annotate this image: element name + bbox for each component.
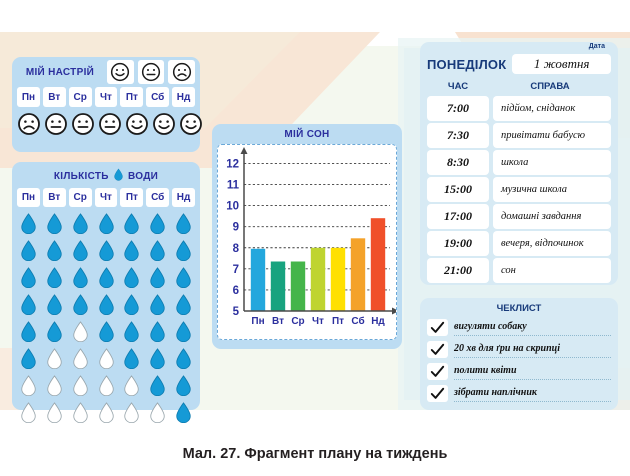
water-drop-filled-icon[interactable] bbox=[176, 240, 191, 266]
water-drop-filled-icon[interactable] bbox=[47, 240, 62, 266]
checklist-title: ЧЕКЛИСТ bbox=[420, 298, 618, 317]
water-drop-filled-icon[interactable] bbox=[21, 321, 36, 347]
mood-day-header: Ср bbox=[69, 87, 92, 107]
date-value-field[interactable]: 1 жовтня bbox=[512, 54, 611, 74]
water-drop-empty-icon[interactable] bbox=[73, 402, 88, 428]
water-drop-empty-icon[interactable] bbox=[124, 402, 139, 428]
page-root: МІЙ НАСТРІЙ bbox=[0, 0, 630, 476]
sleep-chart-panel: МІЙ СОН 56789101112ПнВтСрЧтПтСбНд bbox=[212, 124, 402, 349]
water-drop-filled-icon[interactable] bbox=[99, 294, 114, 320]
water-title: КІЛЬКІСТЬ ВОДИ bbox=[12, 162, 200, 188]
checklist-row: полити квіти bbox=[427, 361, 611, 381]
checklist-checkbox[interactable] bbox=[427, 363, 448, 380]
date-label: Дата bbox=[589, 43, 605, 50]
mood-day-header: Пт bbox=[120, 87, 143, 107]
svg-text:10: 10 bbox=[226, 201, 239, 213]
water-drop-column[interactable] bbox=[17, 213, 40, 428]
svg-text:9: 9 bbox=[233, 222, 239, 234]
water-drop-filled-icon[interactable] bbox=[176, 267, 191, 293]
schedule-task-cell[interactable]: привітати бабусю bbox=[493, 123, 611, 148]
schedule-task-cell[interactable]: домашні завдання bbox=[493, 204, 611, 229]
schedule-time-cell[interactable]: 8:30 bbox=[427, 150, 489, 175]
water-drop-filled-icon[interactable] bbox=[176, 294, 191, 320]
water-drop-empty-icon[interactable] bbox=[47, 348, 62, 374]
water-drop-filled-icon[interactable] bbox=[99, 240, 114, 266]
water-drop-empty-icon[interactable] bbox=[73, 348, 88, 374]
water-drop-filled-icon[interactable] bbox=[150, 294, 165, 320]
water-day-header: Пт bbox=[120, 188, 143, 207]
schedule-task-cell[interactable]: вечеря, відпочинок bbox=[493, 231, 611, 256]
water-title-left: КІЛЬКІСТЬ bbox=[54, 171, 109, 182]
svg-text:Пн: Пн bbox=[251, 316, 264, 327]
water-drop-empty-icon[interactable] bbox=[47, 375, 62, 401]
checklist-item-label[interactable]: вигуляти собаку bbox=[454, 318, 611, 336]
water-drop-filled-icon[interactable] bbox=[176, 348, 191, 374]
water-drop-filled-icon[interactable] bbox=[21, 213, 36, 239]
neutral-face-icon[interactable] bbox=[71, 110, 95, 138]
checklist-item-label[interactable]: зібрати наплічник bbox=[454, 384, 611, 402]
svg-text:7: 7 bbox=[233, 264, 239, 276]
water-drop-filled-icon[interactable] bbox=[124, 321, 139, 347]
sleep-chart-svg: 56789101112ПнВтСрЧтПтСбНд bbox=[218, 145, 396, 337]
schedule-weekday: ПОНЕДІЛОК bbox=[427, 57, 506, 74]
water-drop-filled-icon[interactable] bbox=[124, 240, 139, 266]
water-drop-column[interactable] bbox=[146, 213, 169, 428]
schedule-task-cell[interactable]: школа bbox=[493, 150, 611, 175]
svg-text:11: 11 bbox=[227, 180, 240, 192]
schedule-column-headers: ЧАС СПРАВА bbox=[420, 80, 618, 96]
sleep-chart-title: МІЙ СОН bbox=[212, 124, 402, 144]
water-drop-column[interactable] bbox=[95, 213, 118, 428]
water-drop-filled-icon[interactable] bbox=[21, 240, 36, 266]
schedule-rows: 7:00підйом, сніданок7:30привітати бабусю… bbox=[420, 96, 618, 283]
checklist-panel: ЧЕКЛИСТ вигуляти собаку20 хв для ґри на … bbox=[420, 298, 618, 410]
schedule-task-cell[interactable]: музична школа bbox=[493, 177, 611, 202]
water-drop-filled-icon[interactable] bbox=[21, 348, 36, 374]
schedule-col-task: СПРАВА bbox=[489, 81, 611, 92]
water-day-header: Сб bbox=[146, 188, 169, 207]
water-drop-empty-icon[interactable] bbox=[73, 321, 88, 347]
checklist-checkbox[interactable] bbox=[427, 385, 448, 402]
schedule-task-cell[interactable]: сон bbox=[493, 258, 611, 283]
svg-text:Нд: Нд bbox=[371, 316, 385, 327]
checklist-checkbox[interactable] bbox=[427, 341, 448, 358]
water-drop-grid[interactable] bbox=[12, 207, 200, 434]
water-day-header: Чт bbox=[95, 188, 118, 207]
check-mark-icon bbox=[430, 365, 445, 378]
check-mark-icon bbox=[430, 321, 445, 334]
water-drop-empty-icon[interactable] bbox=[21, 402, 36, 428]
svg-text:Ср: Ср bbox=[291, 316, 304, 327]
happy-face-icon bbox=[107, 60, 134, 84]
water-drop-filled-icon[interactable] bbox=[73, 267, 88, 293]
mood-days-row: ПнВтСрЧтПтСбНд bbox=[12, 87, 200, 107]
water-drop-filled-icon[interactable] bbox=[73, 240, 88, 266]
schedule-row: 7:00підйом, сніданок bbox=[427, 96, 611, 121]
check-mark-icon bbox=[430, 343, 445, 356]
water-drop-filled-icon[interactable] bbox=[99, 267, 114, 293]
svg-text:Пт: Пт bbox=[332, 316, 344, 327]
checklist-item-label[interactable]: полити квіти bbox=[454, 362, 611, 380]
mood-day-header: Пн bbox=[17, 87, 40, 107]
schedule-panel: ПОНЕДІЛОК Дата 1 жовтня ЧАС СПРАВА 7:00п… bbox=[420, 42, 618, 285]
date-wrapper: Дата 1 жовтня bbox=[512, 54, 611, 74]
schedule-task-cell[interactable]: підйом, сніданок bbox=[493, 96, 611, 121]
water-drop-filled-icon[interactable] bbox=[124, 213, 139, 239]
svg-text:Сб: Сб bbox=[351, 315, 364, 327]
water-title-right: ВОДИ bbox=[128, 171, 158, 182]
svg-text:5: 5 bbox=[233, 306, 240, 318]
sad-face-icon[interactable] bbox=[17, 110, 41, 138]
water-drop-filled-icon[interactable] bbox=[150, 213, 165, 239]
water-drop-filled-icon[interactable] bbox=[124, 348, 139, 374]
water-drop-filled-icon[interactable] bbox=[176, 213, 191, 239]
happy-face-icon[interactable] bbox=[125, 110, 149, 138]
water-drop-filled-icon[interactable] bbox=[21, 294, 36, 320]
schedule-time-cell[interactable]: 19:00 bbox=[427, 231, 489, 256]
water-day-header: Нд bbox=[172, 188, 195, 207]
water-drop-filled-icon[interactable] bbox=[150, 375, 165, 401]
sleep-chart-plot: 56789101112ПнВтСрЧтПтСбНд bbox=[217, 144, 397, 340]
water-drop-empty-icon[interactable] bbox=[21, 375, 36, 401]
schedule-time-cell[interactable]: 15:00 bbox=[427, 177, 489, 202]
schedule-time-cell[interactable]: 17:00 bbox=[427, 204, 489, 229]
schedule-row: 15:00музична школа bbox=[427, 177, 611, 202]
checklist-row: 20 хв для ґри на скрипці bbox=[427, 339, 611, 359]
water-drop-empty-icon[interactable] bbox=[150, 402, 165, 428]
water-panel: КІЛЬКІСТЬ ВОДИ ПнВтСрЧтПтСбНд bbox=[12, 162, 200, 410]
water-drop-filled-icon[interactable] bbox=[47, 267, 62, 293]
schedule-time-cell[interactable]: 7:00 bbox=[427, 96, 489, 121]
water-drop-filled-icon[interactable] bbox=[150, 240, 165, 266]
water-drop-empty-icon[interactable] bbox=[99, 375, 114, 401]
schedule-row: 8:30школа bbox=[427, 150, 611, 175]
water-drop-icon bbox=[114, 168, 123, 184]
water-day-header: Вт bbox=[43, 188, 66, 207]
water-drop-filled-icon[interactable] bbox=[21, 267, 36, 293]
water-days-row: ПнВтСрЧтПтСбНд bbox=[12, 188, 200, 207]
water-drop-filled-icon[interactable] bbox=[47, 213, 62, 239]
check-mark-icon bbox=[430, 387, 445, 400]
water-drop-filled-icon[interactable] bbox=[47, 294, 62, 320]
mood-title: МІЙ НАСТРІЙ bbox=[17, 67, 103, 78]
mood-panel: МІЙ НАСТРІЙ bbox=[12, 57, 200, 152]
mood-values-row bbox=[12, 107, 200, 138]
happy-face-icon[interactable] bbox=[179, 110, 203, 138]
happy-face-icon[interactable] bbox=[152, 110, 176, 138]
water-day-header: Ср bbox=[69, 188, 92, 207]
water-drop-filled-icon[interactable] bbox=[150, 321, 165, 347]
schedule-row: 21:00сон bbox=[427, 258, 611, 283]
water-drop-column[interactable] bbox=[43, 213, 66, 428]
water-drop-filled-icon[interactable] bbox=[176, 402, 191, 428]
neutral-face-icon[interactable] bbox=[98, 110, 122, 138]
svg-text:Чт: Чт bbox=[312, 316, 324, 327]
figure-caption: Мал. 27. Фрагмент плану на тиждень bbox=[0, 446, 630, 462]
mood-day-header: Чт bbox=[95, 87, 118, 107]
checklist-item-label[interactable]: 20 хв для ґри на скрипці bbox=[454, 340, 611, 358]
water-drop-filled-icon[interactable] bbox=[73, 213, 88, 239]
checklist-row: зібрати наплічник bbox=[427, 383, 611, 403]
neutral-face-icon[interactable] bbox=[44, 110, 68, 138]
schedule-row: 19:00вечеря, відпочинок bbox=[427, 231, 611, 256]
svg-text:12: 12 bbox=[226, 158, 239, 170]
schedule-row: 17:00домашні завдання bbox=[427, 204, 611, 229]
sad-face-icon bbox=[168, 60, 195, 84]
water-drop-filled-icon[interactable] bbox=[150, 348, 165, 374]
water-drop-empty-icon[interactable] bbox=[124, 375, 139, 401]
neutral-face-icon bbox=[138, 60, 165, 84]
water-drop-filled-icon[interactable] bbox=[124, 294, 139, 320]
svg-text:Вт: Вт bbox=[272, 316, 284, 327]
checklist-checkbox[interactable] bbox=[427, 319, 448, 336]
water-drop-column[interactable] bbox=[172, 213, 195, 428]
schedule-col-time: ЧАС bbox=[427, 81, 489, 92]
checklist-rows: вигуляти собаку20 хв для ґри на скрипціп… bbox=[420, 317, 618, 403]
water-drop-filled-icon[interactable] bbox=[176, 375, 191, 401]
water-day-header: Пн bbox=[17, 188, 40, 207]
water-drop-column[interactable] bbox=[120, 213, 143, 428]
water-drop-filled-icon[interactable] bbox=[73, 294, 88, 320]
svg-text:8: 8 bbox=[233, 243, 240, 255]
water-drop-filled-icon[interactable] bbox=[99, 321, 114, 347]
water-drop-column[interactable] bbox=[69, 213, 92, 428]
schedule-row: 7:30привітати бабусю bbox=[427, 123, 611, 148]
water-drop-filled-icon[interactable] bbox=[99, 213, 114, 239]
water-drop-empty-icon[interactable] bbox=[73, 375, 88, 401]
water-drop-empty-icon[interactable] bbox=[99, 402, 114, 428]
mood-day-header: Нд bbox=[172, 87, 195, 107]
water-drop-empty-icon[interactable] bbox=[99, 348, 114, 374]
svg-text:6: 6 bbox=[233, 285, 239, 297]
schedule-time-cell[interactable]: 21:00 bbox=[427, 258, 489, 283]
checklist-row: вигуляти собаку bbox=[427, 317, 611, 337]
water-drop-filled-icon[interactable] bbox=[124, 267, 139, 293]
water-drop-filled-icon[interactable] bbox=[150, 267, 165, 293]
water-drop-empty-icon[interactable] bbox=[47, 402, 62, 428]
schedule-header: ПОНЕДІЛОК Дата 1 жовтня bbox=[420, 42, 618, 80]
schedule-time-cell[interactable]: 7:30 bbox=[427, 123, 489, 148]
mood-day-header: Сб bbox=[146, 87, 169, 107]
mood-header: МІЙ НАСТРІЙ bbox=[12, 57, 200, 87]
mood-day-header: Вт bbox=[43, 87, 66, 107]
water-drop-filled-icon[interactable] bbox=[47, 321, 62, 347]
water-drop-filled-icon[interactable] bbox=[176, 321, 191, 347]
